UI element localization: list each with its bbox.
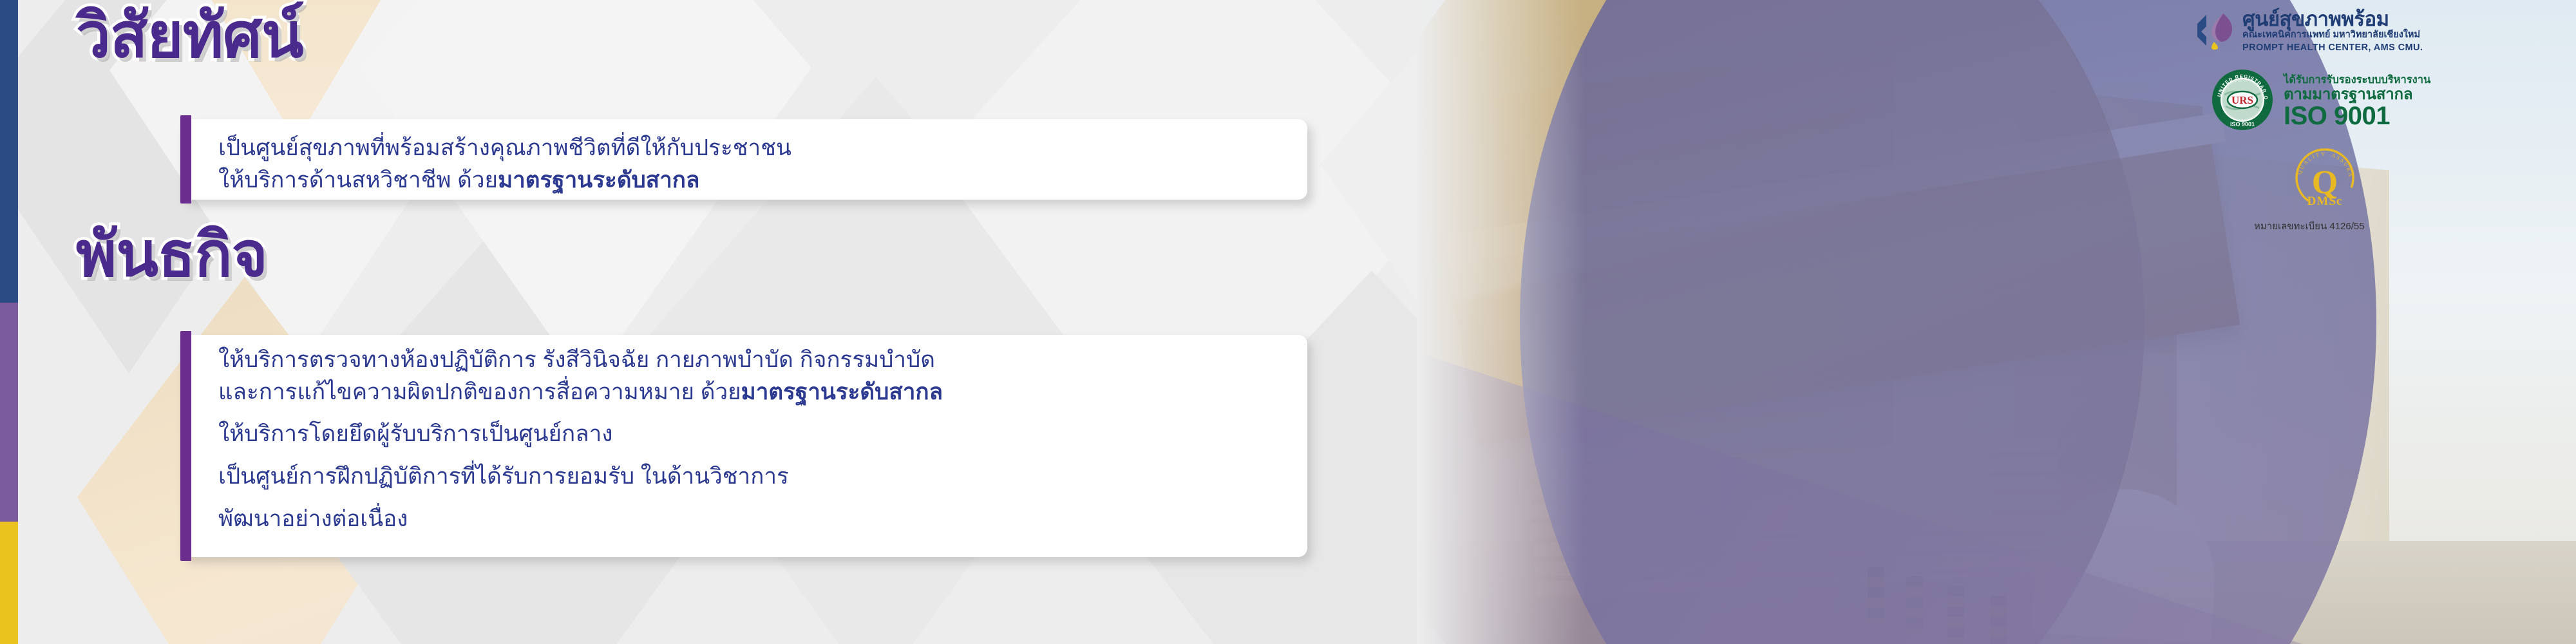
- dmsc-badge-wrap: Q DMSc QUALITY ASSURANCE: [2195, 144, 2555, 214]
- mission-card: ให้บริการตรวจทางห้องปฏิบัติการ รังสีวินิ…: [180, 335, 1307, 557]
- quality-assurance-q-icon: Q DMSc QUALITY ASSURANCE: [2291, 203, 2358, 214]
- dmsc-registration-number: หมายเลขทะเบียน 4126/55: [2195, 218, 2555, 234]
- mission-line-text: และการแก้ไขความผิดปกติของการสื่อความหมาย…: [218, 379, 741, 404]
- svg-text:DMSc: DMSc: [2307, 194, 2343, 208]
- vision-card-accent-bar: [180, 115, 191, 204]
- urs-seal-icon: URS ISO 9001 UNITED REGISTRAR OF SYSTEMS: [2211, 69, 2273, 134]
- mission-line: และการแก้ไขความผิดปกติของการสื่อความหมาย…: [218, 376, 1282, 408]
- vision-line-text: ให้บริการด้านสหวิชาชีพ ด้วย: [218, 167, 498, 193]
- mission-line: เป็นศูนย์การฝึกปฏิบัติการที่ได้รับการยอม…: [218, 460, 1282, 493]
- overlay-left-fade: [1417, 0, 1584, 644]
- iso-text-block: ได้รับการรับรองระบบบริหารงาน ตามมาตรฐานส…: [2284, 75, 2430, 129]
- mission-card-accent-bar: [180, 331, 191, 561]
- brand-logo-row: ศูนย์สุขภาพพร้อม คณะเทคนิคการแพทย์ มหาวิ…: [2195, 9, 2555, 53]
- mission-line-text: ให้บริการโดยยึดผู้รับบริการเป็นศูนย์กลาง: [218, 421, 612, 446]
- mission-paragraph: พัฒนาอย่างต่อเนื่อง: [218, 503, 1282, 535]
- mission-line: ให้บริการตรวจทางห้องปฏิบัติการ รังสีวินิ…: [218, 344, 1282, 376]
- svg-text:URS: URS: [2231, 94, 2253, 106]
- vision-line-emphasis: มาตรฐานระดับสากล: [498, 167, 699, 193]
- prompt-health-diamond-logo-icon: [2195, 10, 2233, 53]
- mission-line-text: เป็นศูนย์การฝึกปฏิบัติการที่ได้รับการยอม…: [218, 464, 789, 489]
- rail-segment-gold: [0, 522, 18, 644]
- rail-segment-blue: [0, 0, 18, 303]
- vision-line-text: เป็นศูนย์สุขภาพที่พร้อมสร้างคุณภาพชีวิตท…: [218, 135, 791, 160]
- vision-line: เป็นศูนย์สุขภาพที่พร้อมสร้างคุณภาพชีวิตท…: [218, 132, 1282, 164]
- mission-line: พัฒนาอย่างต่อเนื่อง: [218, 503, 1282, 535]
- vision-mission-banner: วิสัยทัศน์ เป็นศูนย์สุขภาพที่พร้อมสร้างค…: [0, 0, 2576, 644]
- vision-card-body: เป็นศูนย์สุขภาพที่พร้อมสร้างคุณภาพชีวิตท…: [191, 119, 1307, 200]
- svg-text:ISO 9001: ISO 9001: [2230, 121, 2255, 128]
- mission-line: ให้บริการโดยยึดผู้รับบริการเป็นศูนย์กลาง: [218, 418, 1282, 450]
- mission-card-body: ให้บริการตรวจทางห้องปฏิบัติการ รังสีวินิ…: [191, 335, 1307, 557]
- brand-title-th: ศูนย์สุขภาพพร้อม: [2242, 9, 2423, 29]
- iso-certification-row: URS ISO 9001 UNITED REGISTRAR OF SYSTEMS…: [2195, 69, 2555, 134]
- brand-cluster: ศูนย์สุขภาพพร้อม คณะเทคนิคการแพทย์ มหาวิ…: [2195, 9, 2555, 234]
- mission-paragraph: ให้บริการโดยยึดผู้รับบริการเป็นศูนย์กลาง: [218, 418, 1282, 450]
- mission-heading: พันธกิจ: [76, 224, 267, 286]
- mission-paragraph: เป็นศูนย์การฝึกปฏิบัติการที่ได้รับการยอม…: [218, 460, 1282, 493]
- iso-line-2: ตามมาตรฐานสากล: [2284, 86, 2430, 103]
- mission-line-emphasis: มาตรฐานระดับสากล: [741, 379, 943, 404]
- brand-subtitle-th: คณะเทคนิคการแพทย์ มหาวิทยาลัยเชียงใหม่: [2242, 29, 2423, 42]
- rail-segment-purple: [0, 303, 18, 522]
- vision-card: เป็นศูนย์สุขภาพที่พร้อมสร้างคุณภาพชีวิตท…: [180, 119, 1307, 200]
- mission-line-text: ให้บริการตรวจทางห้องปฏิบัติการ รังสีวินิ…: [218, 347, 935, 372]
- iso-line-3: ISO 9001: [2284, 103, 2430, 129]
- iso-line-1: ได้รับการรับรองระบบบริหารงาน: [2284, 75, 2430, 86]
- mission-paragraph: ให้บริการตรวจทางห้องปฏิบัติการ รังสีวินิ…: [218, 344, 1282, 408]
- left-color-rail: [0, 0, 18, 644]
- brand-subtitle-en: PROMPT HEALTH CENTER, AMS CMU.: [2242, 42, 2423, 54]
- brand-text-block: ศูนย์สุขภาพพร้อม คณะเทคนิคการแพทย์ มหาวิ…: [2242, 9, 2423, 53]
- vision-line: ให้บริการด้านสหวิชาชีพ ด้วยมาตรฐานระดับส…: [218, 164, 1282, 196]
- vision-heading: วิสัยทัศน์: [76, 5, 303, 67]
- mission-line-text: พัฒนาอย่างต่อเนื่อง: [218, 506, 408, 531]
